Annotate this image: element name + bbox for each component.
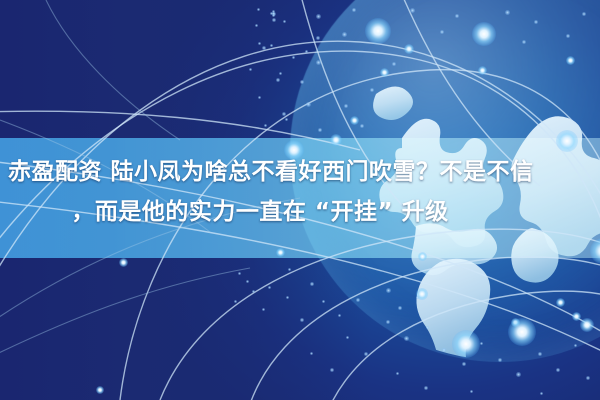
headline-line-1: 赤盈配资 陆小凤为啥总不看好西门吹雪？不是不信 (0, 152, 600, 192)
banner-image: 赤盈配资 陆小凤为啥总不看好西门吹雪？不是不信 ，而是他的实力一直在 “开挂” … (0, 0, 600, 400)
headline-line-2: ，而是他的实力一直在 “开挂” 升级 (0, 192, 600, 232)
page-title: 赤盈配资 陆小凤为啥总不看好西门吹雪？不是不信 ，而是他的实力一直在 “开挂” … (0, 152, 600, 232)
